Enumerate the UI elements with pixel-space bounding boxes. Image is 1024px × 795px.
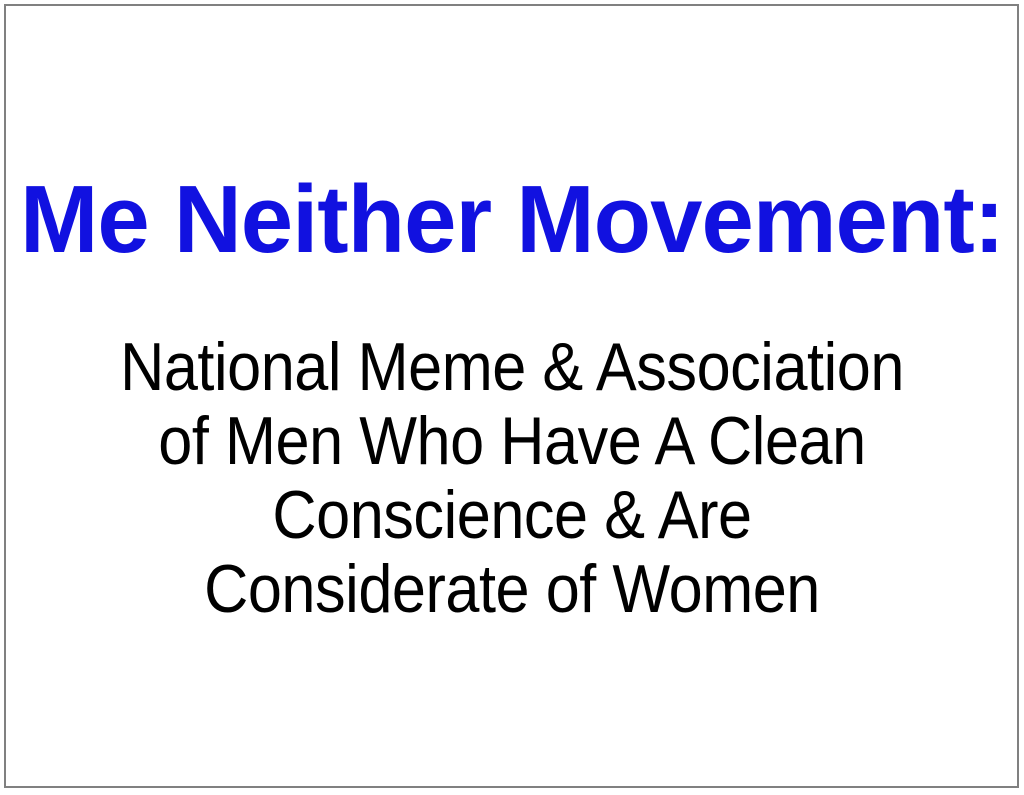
presentation-slide: Me Neither Movement: National Meme & Ass… [0, 0, 1024, 795]
body-line-3: Conscience & Are [51, 478, 973, 552]
body-line-2: of Men Who Have A Clean [51, 404, 973, 478]
body-line-4: Considerate of Women [51, 552, 973, 626]
slide-title: Me Neither Movement: [10, 168, 1014, 272]
slide-body-text: National Meme & Association of Men Who H… [0, 330, 1024, 626]
body-line-1: National Meme & Association [51, 330, 973, 404]
